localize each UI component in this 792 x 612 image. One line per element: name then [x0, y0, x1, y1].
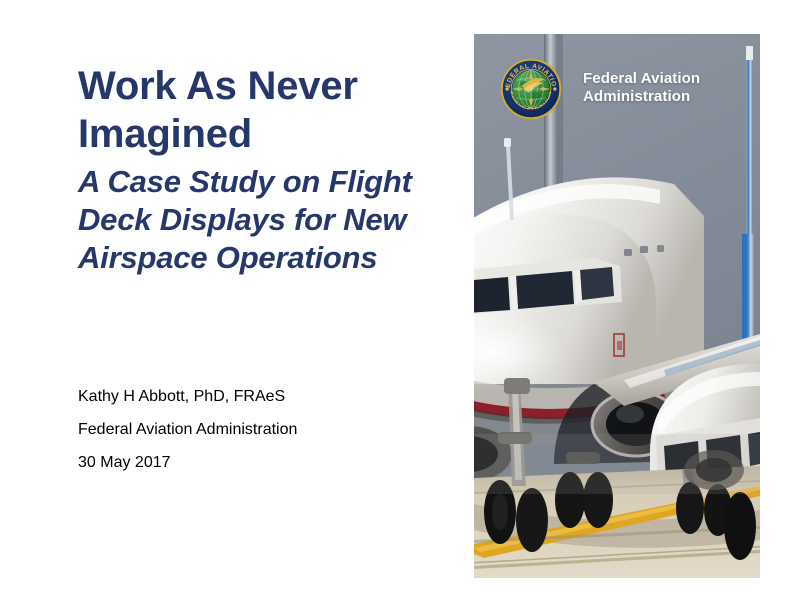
subtitle-line-3: Airspace Operations: [78, 239, 468, 277]
title-line-2: Imagined: [78, 110, 458, 158]
author-block: Kathy H Abbott, PhD, FRAeS Federal Aviat…: [78, 380, 458, 479]
subtitle-line-1: A Case Study on Flight: [78, 163, 468, 201]
slide-canvas: Work As Never Imagined A Case Study on F…: [0, 0, 792, 612]
page-title: Work As Never Imagined: [78, 62, 458, 158]
author-affiliation: Federal Aviation Administration: [78, 413, 458, 446]
subtitle-line-2: Deck Displays for New: [78, 201, 468, 239]
airliner-taxiway-illustration: [474, 34, 760, 578]
title-line-1: Work As Never: [78, 62, 458, 110]
cover-photo: [474, 34, 760, 578]
presentation-date: 30 May 2017: [78, 446, 458, 479]
page-subtitle: A Case Study on Flight Deck Displays for…: [78, 163, 468, 277]
author-name: Kathy H Abbott, PhD, FRAeS: [78, 380, 458, 413]
